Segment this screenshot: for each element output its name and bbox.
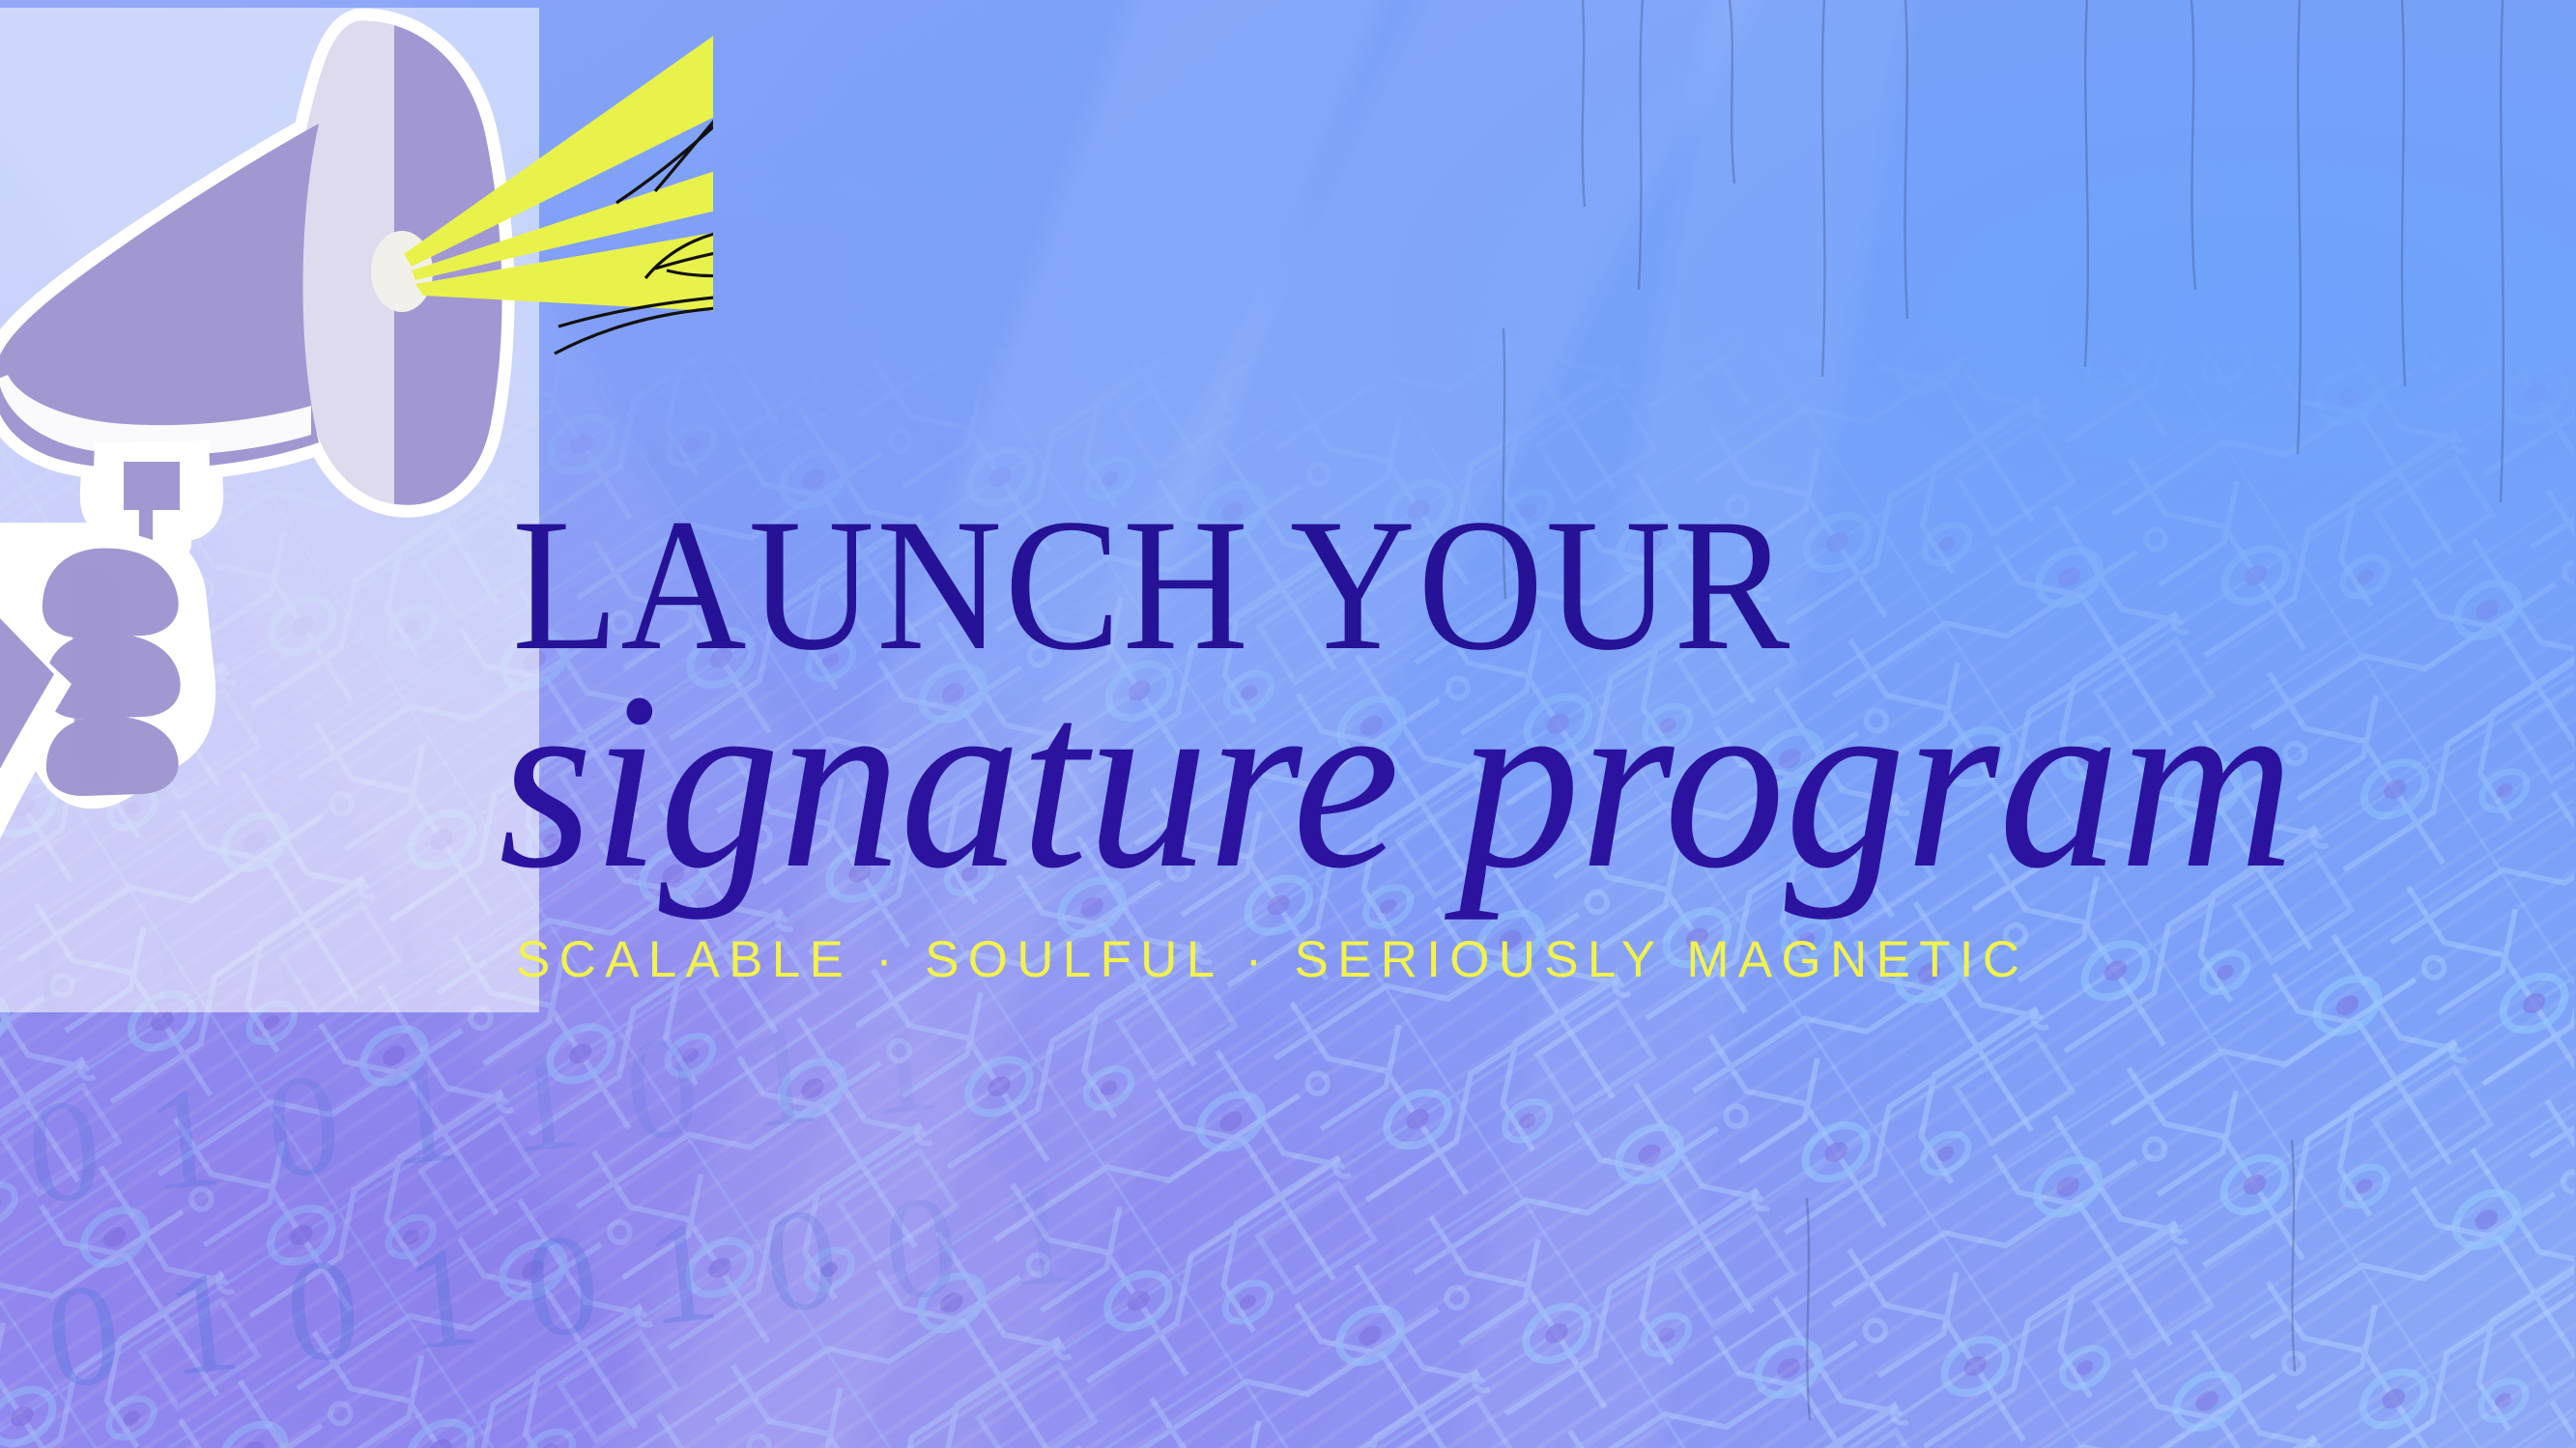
promo-banner: 1 1 1 1 1 1 1 0 1 0 1 1 0 1 0 0 1 0 1 1 … bbox=[0, 0, 2576, 1448]
headline-script-line: signature program bbox=[499, 665, 2348, 897]
tagline: SCALABLE · SOULFUL · SERIOUSLY MAGNETIC bbox=[516, 930, 2425, 989]
copy-block: LAUNCH YOUR signature program SCALABLE ·… bbox=[512, 493, 2425, 989]
megaphone-halftone-fill bbox=[0, 8, 539, 1012]
